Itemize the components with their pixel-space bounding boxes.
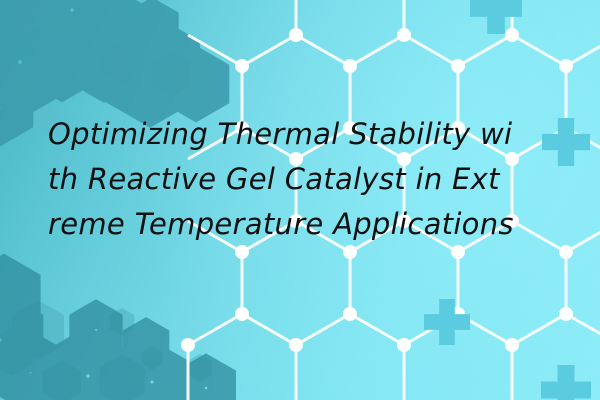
title-line-2: th Reactive Gel Catalyst in Ext	[48, 157, 568, 202]
title-line-1: Optimizing Thermal Stability wi	[48, 112, 568, 157]
banner-title: Optimizing Thermal Stability wi th React…	[48, 112, 568, 247]
banner-image: Optimizing Thermal Stability wi th React…	[0, 0, 600, 400]
title-line-3: reme Temperature Applications	[48, 202, 568, 247]
